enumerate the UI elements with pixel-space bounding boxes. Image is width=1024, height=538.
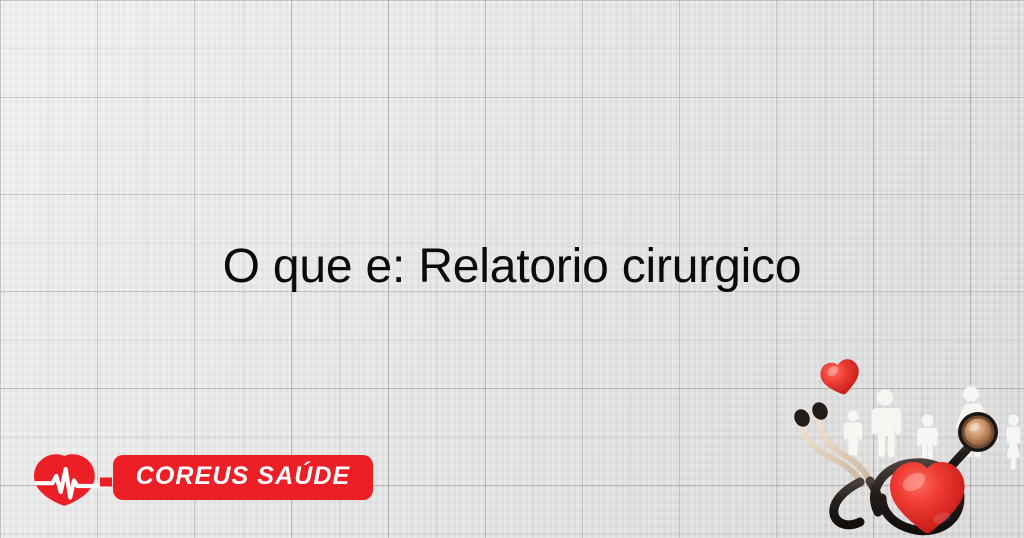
page-title: O que e: Relatorio cirurgico — [0, 238, 1024, 296]
small-heart-icon — [818, 357, 863, 398]
chest-piece-icon — [958, 412, 998, 452]
brand-name-text: COREUS SAÚDE — [136, 462, 351, 491]
brand-logo: COREUS SAÚDE — [30, 448, 350, 510]
stethoscope-heart-family-illustration — [782, 352, 1024, 538]
brand-name-badge: COREUS SAÚDE — [113, 455, 373, 500]
heart-pulse-icon — [30, 452, 112, 506]
presentation-slide: O que e: Relatorio cirurgico COREUS SAÚD… — [0, 0, 1024, 538]
